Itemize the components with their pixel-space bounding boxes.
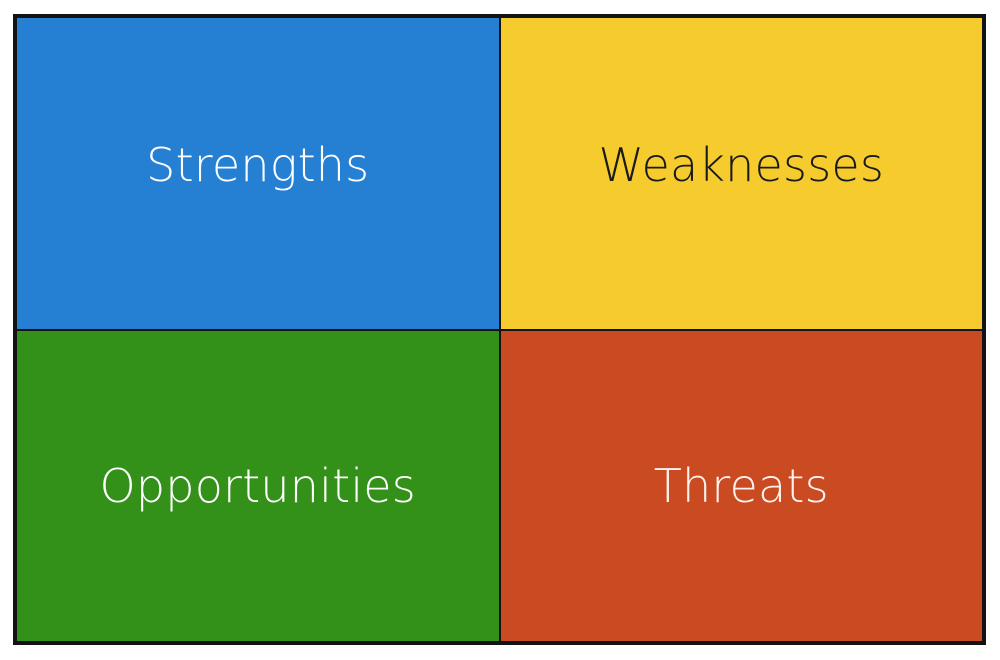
swot-diagram-canvas: Strengths Weaknesses Opportunities Threa… <box>0 0 1000 660</box>
swot-matrix: Strengths Weaknesses Opportunities Threa… <box>13 14 986 645</box>
swot-quadrant-label-opportunities: Opportunities <box>100 463 416 509</box>
swot-quadrant-label-strengths: Strengths <box>146 142 369 188</box>
swot-quadrant-label-weaknesses: Weaknesses <box>598 142 884 188</box>
swot-quadrant-opportunities[interactable]: Opportunities <box>17 331 499 642</box>
swot-quadrant-strengths[interactable]: Strengths <box>17 18 499 329</box>
swot-quadrant-weaknesses[interactable]: Weaknesses <box>501 18 983 329</box>
swot-quadrant-threats[interactable]: Threats <box>501 331 983 642</box>
swot-quadrant-label-threats: Threats <box>654 463 829 509</box>
